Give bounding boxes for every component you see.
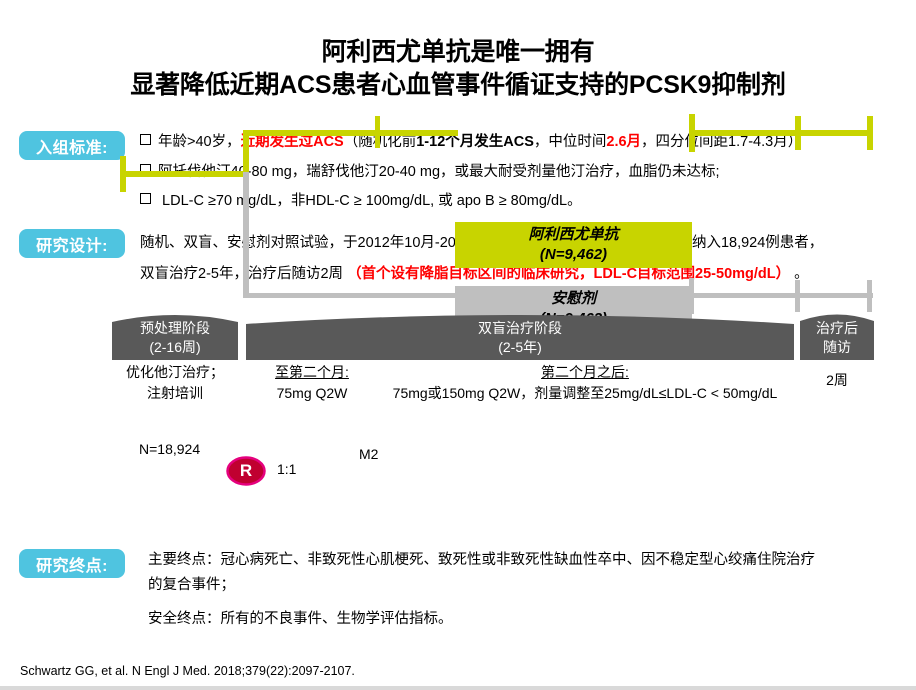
m2-tick <box>375 116 380 148</box>
page-title-line-1: 阿利西尤单抗是唯一拥有 <box>0 36 916 69</box>
arm-box-alirocumab-text: 阿利西尤单抗 (N=9,462) <box>528 225 618 266</box>
footer-divider <box>0 686 916 690</box>
phase-title: 双盲治疗阶段 <box>478 319 562 338</box>
dosing-caption-run-in: 优化他汀治疗； 注射培训 <box>112 362 238 404</box>
footer-citation: Schwartz GG, et al. N Engl J Med. 2018;3… <box>20 664 355 678</box>
timeline-split-up <box>243 130 249 174</box>
dosing-caption-after-month-2: 第二个月之后: 75mg或150mg Q2W，剂量调整至25mg/dL≤LDL-… <box>376 362 794 404</box>
after-month-2-heading: 第二个月之后: <box>376 362 794 383</box>
phase-duration: (2-16周) <box>140 338 210 357</box>
label-m2-tick: M2 <box>359 446 378 462</box>
endpoint-safety-line: 安全终点：所有的不良事件、生物学评估指标。 <box>148 608 908 631</box>
phase-bar-follow-up: 治疗后 随访 <box>800 312 874 360</box>
dosing-caption-month-2: 至第二个月: 75mg Q2W <box>252 362 372 404</box>
label-allocation-ratio: 1:1 <box>277 461 296 477</box>
phase-title: 治疗后 <box>816 319 858 338</box>
placebo-tick-3 <box>867 280 872 312</box>
phase-title: 预处理阶段 <box>140 319 210 338</box>
phase-duration: 随访 <box>816 338 858 357</box>
label-total-enrolled: N=18,924 <box>139 441 200 457</box>
phase-bar-double-blind-text: 双盲治疗阶段 (2-5年) <box>478 319 562 357</box>
arm-sample-size: (N=9,462) <box>528 245 618 265</box>
phase-bar-run-in-text: 预处理阶段 (2-16周) <box>140 319 210 357</box>
run-in-line-1: 优化他汀治疗； <box>112 362 238 383</box>
alirocumab-tick-2 <box>795 116 801 150</box>
month-2-heading: 至第二个月: <box>252 362 372 383</box>
alirocumab-tick-3 <box>867 116 873 150</box>
timeline-entry-segment <box>120 171 244 177</box>
randomization-marker: R <box>226 456 266 486</box>
placebo-arm-line-right <box>689 293 873 298</box>
page-title: 阿利西尤单抗是唯一拥有 显著降低近期ACS患者心血管事件循证支持的PCSK9抑制… <box>0 36 916 102</box>
arm-drug-name: 安慰剂 <box>540 289 607 309</box>
design-line-2-highlight: （首个设有降脂目标区间的临床研究，LDL-C目标范围25-50mg/dL） <box>347 266 790 282</box>
study-endpoints-text: 主要终点：冠心病死亡、非致死性心肌梗死、致死性或非致死性缺血性卒中、因不稳定型心… <box>148 549 908 633</box>
timeline-split-down <box>243 172 249 298</box>
after-month-2-value: 75mg或150mg Q2W，剂量调整至25mg/dL≤LDL-C < 50mg… <box>376 383 794 404</box>
endpoint-primary-line-1: 主要终点：冠心病死亡、非致死性心肌梗死、致死性或非致死性缺血性卒中、因不稳定型心… <box>148 549 908 572</box>
page-title-line-2: 显著降低近期ACS患者心血管事件循证支持的PCSK9抑制剂 <box>0 69 916 102</box>
randomization-letter: R <box>226 456 266 486</box>
study-design-diagram: 预处理阶段 (2-16周) 双盲治疗阶段 (2-5年) 治疗后 随访 优化他汀治… <box>0 300 916 545</box>
arm-box-alirocumab: 阿利西尤单抗 (N=9,462) <box>455 222 692 268</box>
randomization-timeline: 阿利西尤单抗 (N=9,462) 安慰剂 (N=9,462) <box>0 110 916 240</box>
phase-bar-run-in: 预处理阶段 (2-16周) <box>112 312 238 360</box>
endpoint-primary-line-2: 的复合事件； <box>148 574 908 597</box>
phase-bar-double-blind: 双盲治疗阶段 (2-5年) <box>246 312 794 360</box>
phase-bar-follow-up-text: 治疗后 随访 <box>816 319 858 357</box>
dosing-caption-follow-up: 2周 <box>800 370 874 391</box>
placebo-arm-line-left <box>243 293 458 298</box>
placebo-tick-2 <box>795 280 800 312</box>
arm-drug-name: 阿利西尤单抗 <box>528 225 618 245</box>
phase-duration: (2-5年) <box>478 338 562 357</box>
alirocumab-arm-line-left <box>243 130 458 136</box>
month-2-value: 75mg Q2W <box>252 383 372 404</box>
run-in-line-2: 注射培训 <box>112 383 238 404</box>
alirocumab-tick-1 <box>689 114 695 152</box>
section-badge-study-endpoints: 研究终点: <box>19 549 125 578</box>
alirocumab-arm-line-right <box>689 130 873 136</box>
